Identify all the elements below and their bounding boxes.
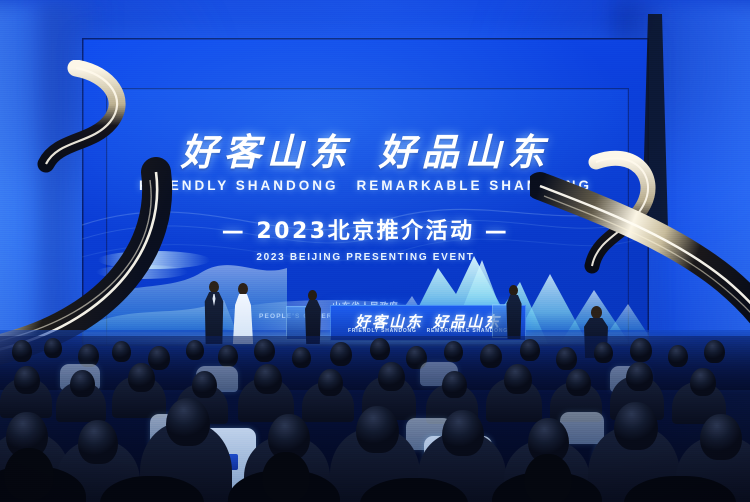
led-screen: 好客山东好品山东 FRIENDLY SHANDONGREMARKABLE SHA… — [82, 38, 649, 346]
lectern-center — [286, 306, 316, 340]
event-photo: 好客山东好品山东 FRIENDLY SHANDONGREMARKABLE SHA… — [0, 0, 750, 502]
secondary-banner-en-left: FRIENDLY SHANDONG — [348, 328, 417, 334]
lectern-right — [492, 304, 518, 338]
audience-area — [0, 336, 750, 502]
